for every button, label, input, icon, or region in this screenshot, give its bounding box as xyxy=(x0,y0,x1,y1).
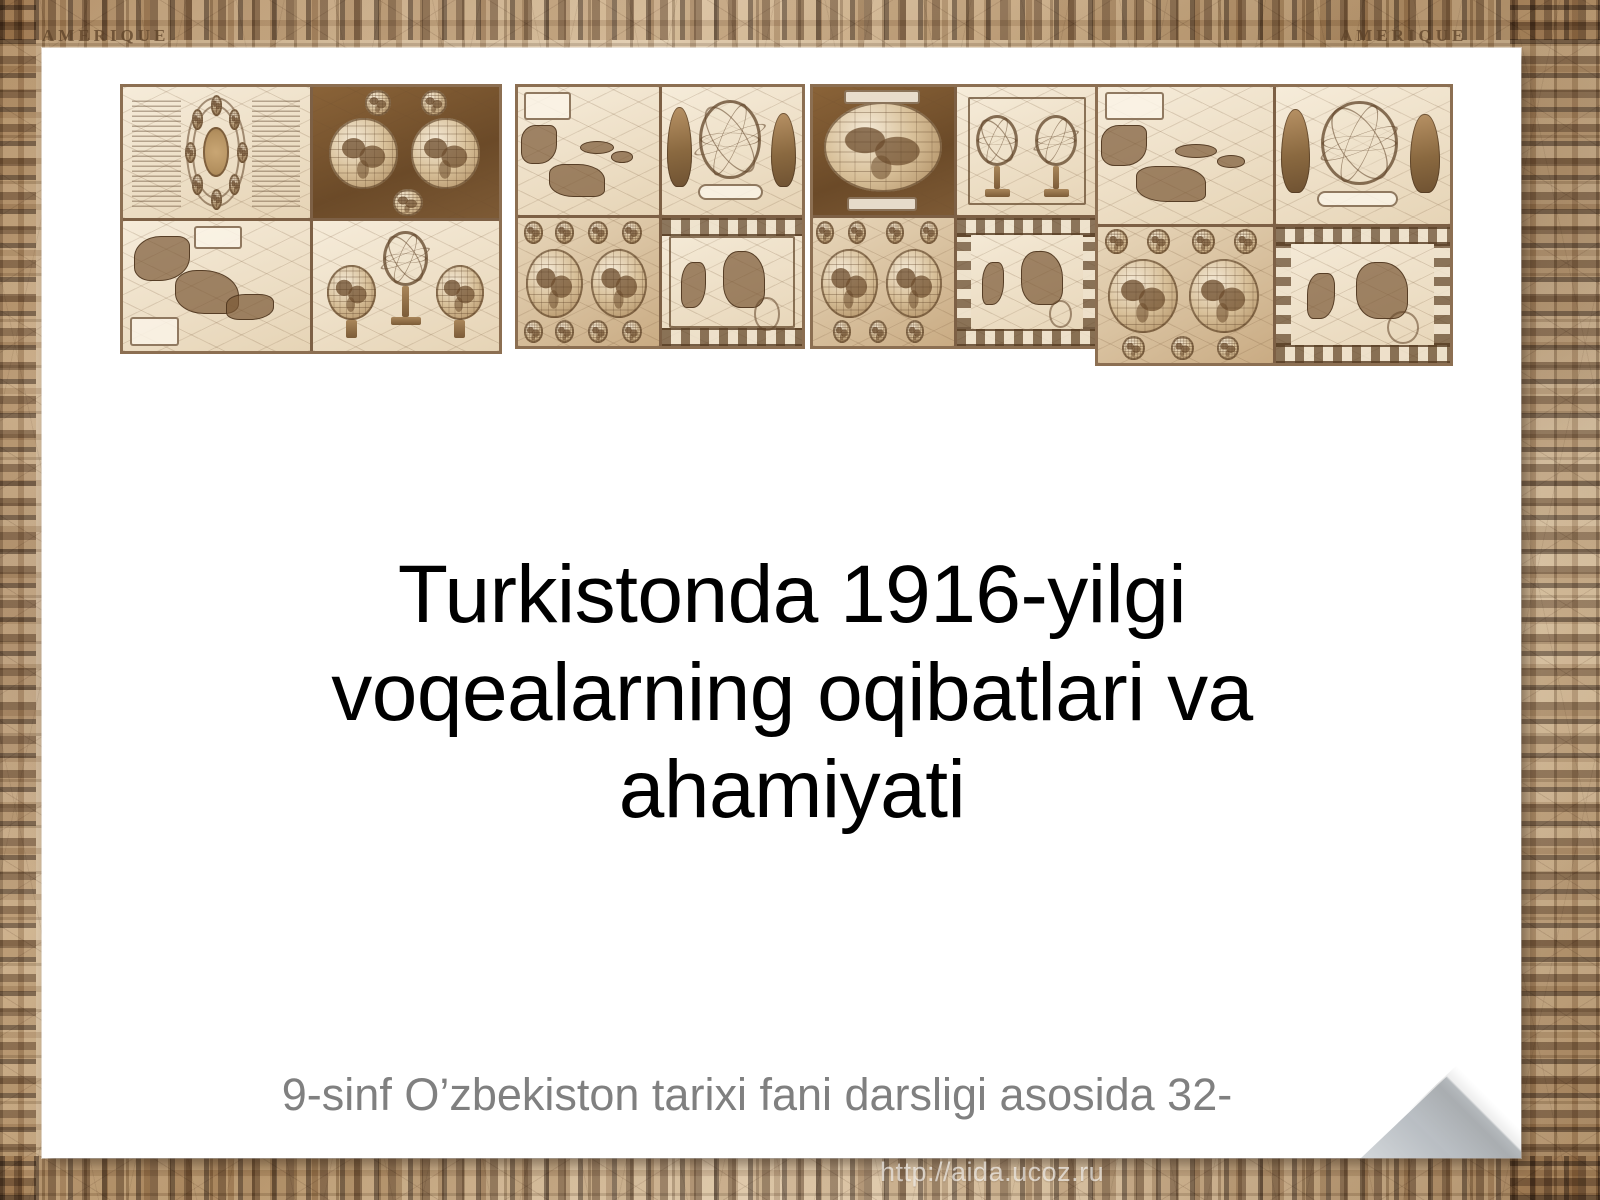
double-hemisphere-world-map-dark-sepia-tile xyxy=(313,87,500,218)
antique-map-collage-strip[interactable] xyxy=(120,84,1460,396)
world-map-with-decorative-figure-border-tile xyxy=(662,218,803,346)
oval-world-map-ortelius-style-tile xyxy=(813,87,954,215)
slide-page: Turkistonda 1916-yilgi voqealarning oqib… xyxy=(42,48,1521,1158)
collage-panel-3[interactable] xyxy=(810,84,1100,349)
caribbean-west-indies-chart-tile xyxy=(1098,87,1273,224)
armillary-sphere-and-terrestrial-globes-tile xyxy=(313,221,500,352)
caribbean-west-indies-chart-tile xyxy=(518,87,659,215)
collage-panel-2[interactable] xyxy=(515,84,805,349)
background-label-amerique-left: AMERIQUE xyxy=(42,26,169,46)
site-watermark: http://aida.ucoz.ru xyxy=(880,1157,1104,1188)
armillary-sphere-with-angel-and-figure-tile xyxy=(662,87,803,215)
background-label-amerique-right: AMERIQUE xyxy=(1340,26,1467,46)
double-hemisphere-world-map-with-roundels-tile xyxy=(1098,227,1273,364)
world-map-with-figure-border-panels-tile xyxy=(957,218,1098,346)
southeast-asia-east-indies-sea-chart-tile xyxy=(123,221,310,352)
slide-subtitle: 9-sinf O’zbekiston tarixi fani darsligi … xyxy=(92,1068,1422,1122)
slide-title: Turkistonda 1916-yilgi voqealarning oqib… xyxy=(272,546,1312,839)
presentation-slide: AMERIQUE AMERIQUE xyxy=(0,0,1600,1200)
double-hemisphere-world-map-with-roundels-tile xyxy=(813,218,954,346)
slide-subtitle-placeholder[interactable]: 9-sinf O’zbekiston tarixi fani darsligi … xyxy=(92,1068,1422,1122)
world-map-with-decorative-figure-border-tile xyxy=(1276,227,1451,364)
armillary-sphere-with-angel-and-figure-tile xyxy=(1276,87,1451,224)
background-frame-left xyxy=(0,0,36,1200)
background-frame-right xyxy=(1510,0,1600,1200)
background-frame-bottom xyxy=(0,1156,1600,1200)
celestial-sphere-diagram-with-sun-face-tile xyxy=(123,87,310,218)
double-hemisphere-world-map-with-roundels-tile xyxy=(518,218,659,346)
collage-panel-1[interactable] xyxy=(120,84,502,354)
slide-title-placeholder[interactable]: Turkistonda 1916-yilgi voqealarning oqib… xyxy=(272,546,1312,839)
two-armillary-spheres-framed-plate-tile xyxy=(957,87,1098,215)
collage-panel-4[interactable] xyxy=(1095,84,1453,366)
